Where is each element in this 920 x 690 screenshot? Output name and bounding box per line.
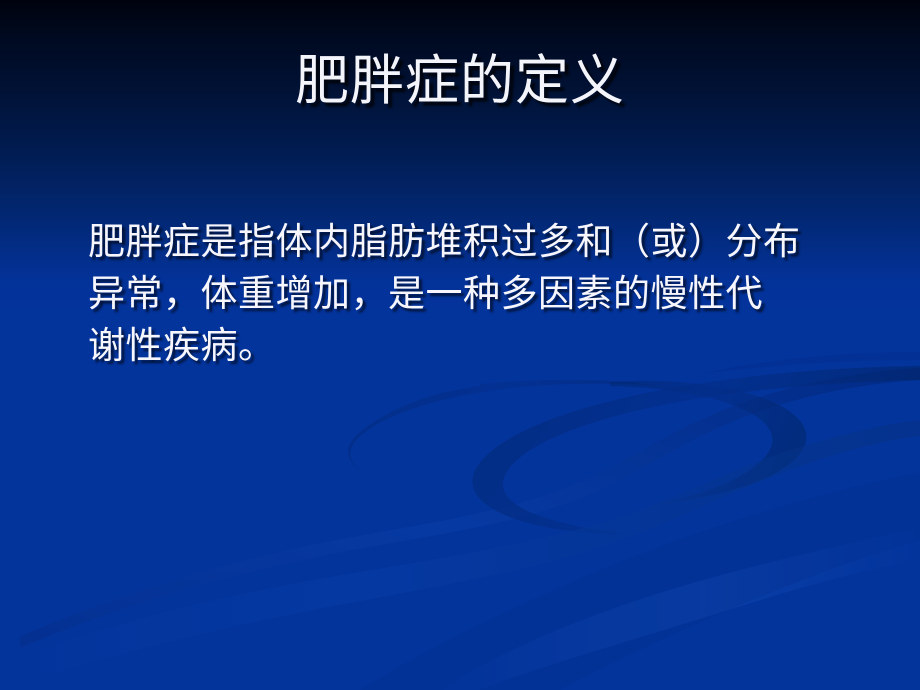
body-line-1: 肥胖症是指体内脂肪堆积过多和（或）分布: [88, 216, 878, 268]
body-line-3: 谢性疾病。: [88, 320, 878, 372]
body-line-2: 异常，体重增加，是一种多因素的慢性代: [88, 268, 878, 320]
slide-title-block: 肥胖症的定义: [0, 52, 920, 110]
presentation-slide: 肥胖症的定义 肥胖症是指体内脂肪堆积过多和（或）分布 异常，体重增加，是一种多因…: [0, 0, 920, 690]
page-title: 肥胖症的定义: [295, 52, 625, 110]
slide-body-text: 肥胖症是指体内脂肪堆积过多和（或）分布 异常，体重增加，是一种多因素的慢性代 谢…: [88, 216, 878, 372]
